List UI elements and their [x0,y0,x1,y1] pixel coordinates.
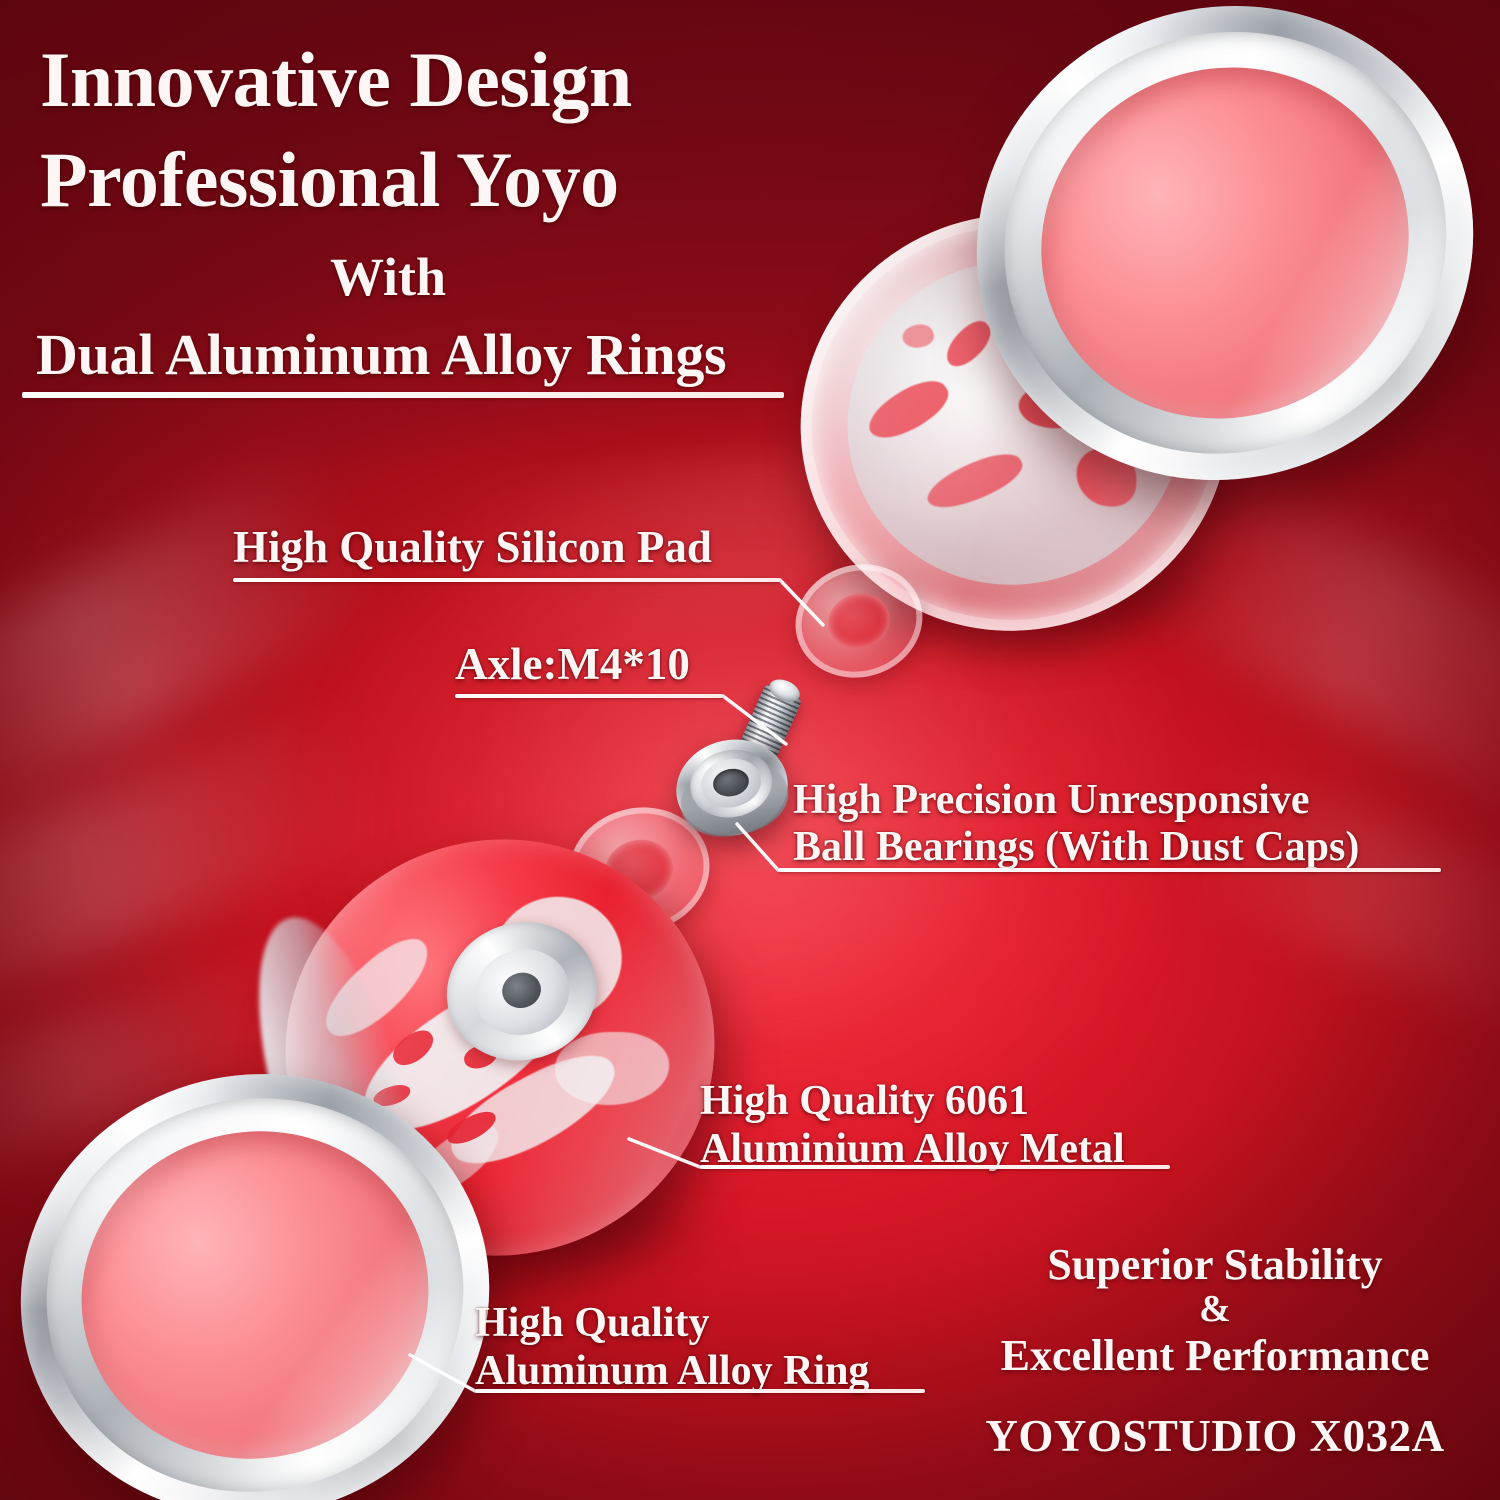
callout-underline-silicon-pad [233,578,780,582]
callout-alloy-ring: High Quality Aluminum Alloy Ring [475,1300,869,1396]
callout-underline-alloy-metal [700,1165,1170,1169]
headline-line-1: Innovative Design [40,40,632,120]
tagline-ampersand: & [950,1289,1480,1331]
callout-underline-ball-bearing [778,868,1441,872]
headline-line-3: With [330,250,446,305]
callout-axle: Axle:M4*10 [455,642,690,688]
product-infographic: Innovative Design Professional Yoyo With… [0,0,1500,1500]
headline-underline [22,392,784,398]
callout-underline-axle [455,694,723,698]
callout-underline-alloy-ring [475,1389,925,1393]
tagline-block: Superior Stability & Excellent Performan… [950,1240,1480,1380]
model-name: YOYOSTUDIO X032A [950,1410,1480,1462]
callout-silicon-pad: High Quality Silicon Pad [233,525,712,571]
headline-line-2: Professional Yoyo [40,140,619,220]
tagline-line-2: Excellent Performance [1001,1331,1430,1380]
callout-alloy-metal: High Quality 6061 Aluminium Alloy Metal [700,1078,1125,1174]
tagline-line-1: Superior Stability [1047,1240,1382,1289]
callout-ball-bearing: High Precision Unresponsive Ball Bearing… [793,777,1359,871]
headline-line-4: Dual Aluminum Alloy Rings [36,325,726,384]
